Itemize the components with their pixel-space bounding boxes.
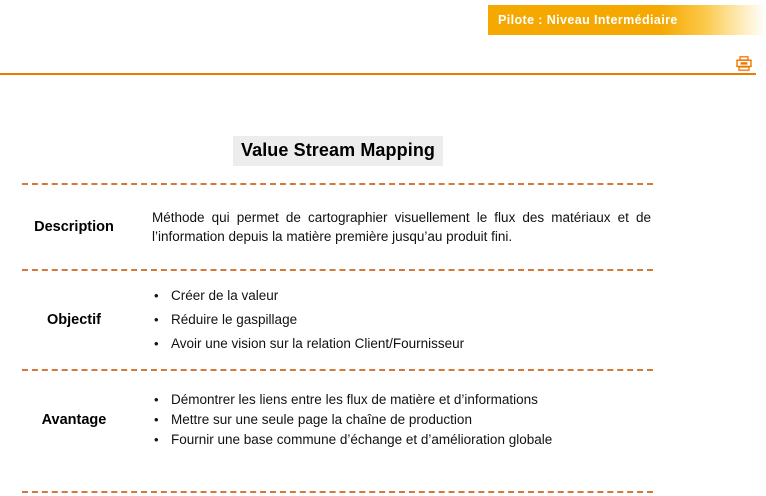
row-label-objectif: Objectif: [0, 312, 152, 328]
page-title-container: Value Stream Mapping: [0, 136, 676, 166]
list-item: Avoir une vision sur la relation Client/…: [152, 332, 651, 356]
printer-icon[interactable]: [736, 56, 752, 71]
bottom-spacer: [0, 469, 766, 491]
table-row-avantage: Avantage Démontrer les liens entre les f…: [0, 371, 766, 469]
row-content-objectif: Créer de la valeur Réduire le gaspillage…: [152, 284, 766, 356]
row-label-avantage: Avantage: [0, 412, 152, 428]
pilote-level-label: Pilote : Niveau Intermédiaire: [498, 13, 678, 27]
header-divider-rule: [0, 73, 756, 75]
row-content-description: Méthode qui permet de cartographier visu…: [152, 208, 766, 246]
pilote-level-banner: Pilote : Niveau Intermédiaire: [488, 5, 766, 35]
row-label-description: Description: [0, 219, 152, 235]
page-title: Value Stream Mapping: [233, 136, 443, 166]
description-paragraph: Méthode qui permet de cartographier visu…: [152, 208, 651, 246]
row-separator-bottom: [22, 491, 653, 493]
vsm-definition-table: Description Méthode qui permet de cartog…: [0, 183, 766, 493]
list-item: Réduire le gaspillage: [152, 308, 651, 332]
objectif-bullet-list: Créer de la valeur Réduire le gaspillage…: [152, 284, 651, 356]
row-content-avantage: Démontrer les liens entre les flux de ma…: [152, 390, 766, 450]
list-item: Mettre sur une seule page la chaîne de p…: [152, 410, 651, 430]
avantage-bullet-list: Démontrer les liens entre les flux de ma…: [152, 390, 651, 450]
list-item: Fournir une base commune d’échange et d’…: [152, 430, 651, 450]
list-item: Créer de la valeur: [152, 284, 651, 308]
list-item: Démontrer les liens entre les flux de ma…: [152, 390, 651, 410]
table-row-objectif: Objectif Créer de la valeur Réduire le g…: [0, 271, 766, 369]
table-row-description: Description Méthode qui permet de cartog…: [0, 185, 766, 269]
